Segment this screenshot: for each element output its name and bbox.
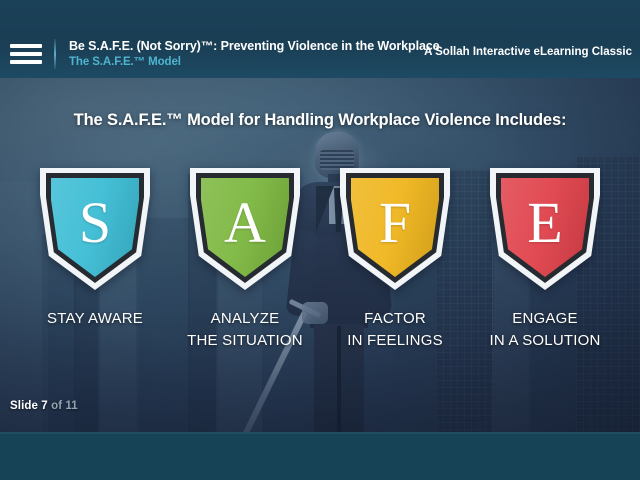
- course-title: Be S.A.F.E. (Not Sorry)™: Preventing Vio…: [69, 40, 414, 53]
- shield-graphic: A: [190, 168, 300, 290]
- hamburger-menu-icon[interactable]: [10, 41, 42, 67]
- header-content: Be S.A.F.E. (Not Sorry)™: Preventing Vio…: [0, 30, 640, 78]
- shield-graphic: F: [340, 168, 450, 290]
- shield-analyze-the-situation[interactable]: A ANALYZE THE SITUATION: [184, 168, 307, 352]
- hamburger-bar-1: [10, 44, 42, 48]
- slide-counter: Slide 7 of 11: [10, 400, 78, 412]
- shield-letter: E: [490, 178, 600, 277]
- hamburger-bar-2: [10, 52, 42, 56]
- shield-label: FACTOR IN FEELINGS: [347, 308, 443, 352]
- safe-shield-row: S STAY AWARE A ANALYZE THE SITUATION: [0, 168, 640, 352]
- header-title-block: Be S.A.F.E. (Not Sorry)™: Preventing Vio…: [69, 40, 414, 67]
- shield-letter: A: [190, 178, 300, 277]
- course-subtitle: The S.A.F.E.™ Model: [69, 56, 414, 68]
- shield-label: ANALYZE THE SITUATION: [187, 308, 303, 352]
- shield-factor-in-feelings[interactable]: F FACTOR IN FEELINGS: [334, 168, 457, 352]
- shield-graphic: E: [490, 168, 600, 290]
- shield-label-line-2: IN FEELINGS: [347, 330, 443, 352]
- shield-label: STAY AWARE: [47, 308, 143, 330]
- shield-label-line-2: THE SITUATION: [187, 330, 303, 352]
- shield-stay-aware[interactable]: S STAY AWARE: [34, 168, 157, 330]
- elearning-player: Be S.A.F.E. (Not Sorry)™: Preventing Vio…: [0, 0, 640, 480]
- header-divider: [54, 39, 56, 69]
- brand-label: A Sollah Interactive eLearning Classic: [414, 46, 640, 58]
- shield-label-line-2: IN A SOLUTION: [490, 330, 601, 352]
- slide-canvas: The S.A.F.E.™ Model for Handling Workpla…: [0, 78, 640, 432]
- shield-label-line-1: ANALYZE: [187, 308, 303, 330]
- slide-heading: The S.A.F.E.™ Model for Handling Workpla…: [0, 111, 640, 130]
- slide-counter-current: Slide 7: [10, 400, 48, 412]
- slide-counter-total: of 11: [51, 400, 78, 412]
- shield-label: ENGAGE IN A SOLUTION: [490, 308, 601, 352]
- shield-label-line-1: STAY AWARE: [47, 308, 143, 330]
- shield-engage-in-a-solution[interactable]: E ENGAGE IN A SOLUTION: [484, 168, 607, 352]
- player-header: Be S.A.F.E. (Not Sorry)™: Preventing Vio…: [0, 0, 640, 78]
- shield-letter: S: [40, 178, 150, 277]
- shield-letter: F: [340, 178, 450, 277]
- hamburger-bar-3: [10, 60, 42, 64]
- shield-graphic: S: [40, 168, 150, 290]
- shield-label-line-1: FACTOR: [347, 308, 443, 330]
- player-footer: [0, 432, 640, 480]
- footer-divider: [0, 432, 640, 434]
- shield-label-line-1: ENGAGE: [490, 308, 601, 330]
